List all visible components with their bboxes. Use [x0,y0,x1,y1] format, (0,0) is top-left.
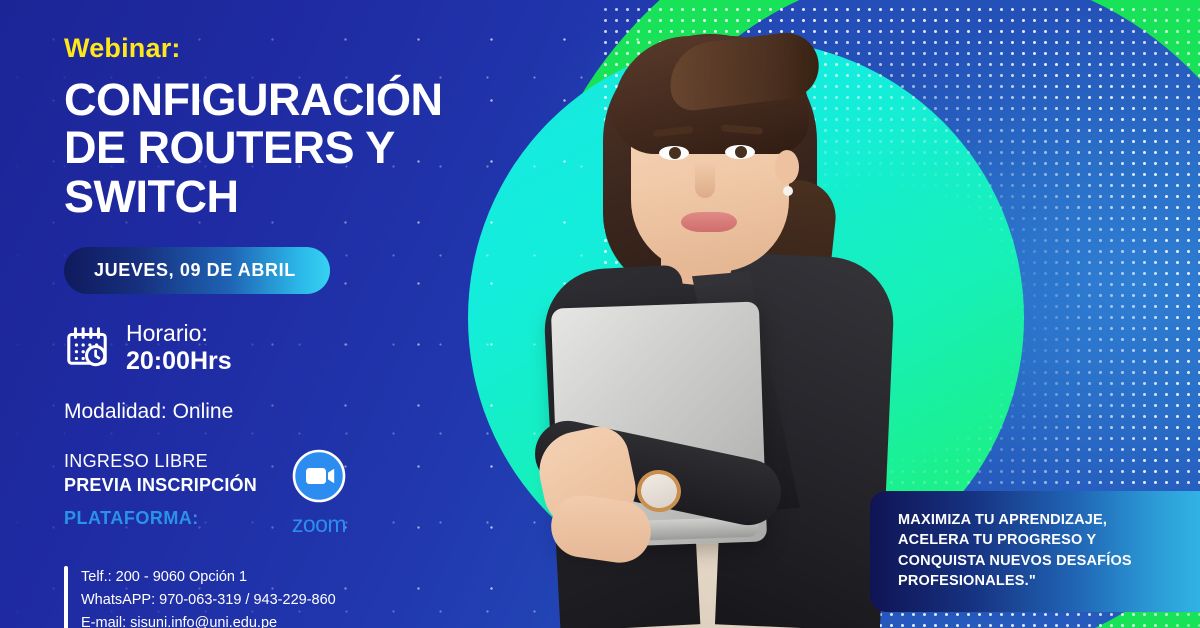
platform-label: PLATAFORMA: [64,508,257,529]
presenter-pupil-left [669,147,681,159]
contact-lines: Telf.: 200 - 9060 Opción 1 WhatsAPP: 970… [81,566,336,628]
schedule-label: Horario: [126,320,232,347]
headline-line-2: DE ROUTERS Y [64,124,470,173]
modality-text: Modalidad: Online [64,400,470,424]
access-line-1: INGRESO LIBRE [64,450,257,473]
contact-email: E-mail: sisuni.info@uni.edu.pe [81,612,336,628]
presenter-nose [695,162,715,198]
contact-block: Telf.: 200 - 9060 Opción 1 WhatsAPP: 970… [64,566,470,628]
schedule-time: 20:00Hrs [126,347,232,376]
content-column: Webinar: CONFIGURACIÓN DE ROUTERS Y SWIT… [0,0,470,628]
page-title: CONFIGURACIÓN DE ROUTERS Y SWITCH [64,76,470,222]
zoom-camera-icon [291,448,347,509]
contact-accent-bar [64,566,68,628]
presenter-pupil-right [735,146,747,158]
headline-line-1: CONFIGURACIÓN [64,76,470,125]
zoom-wordmark: zoom [292,511,346,538]
access-block: INGRESO LIBRE PREVIA INSCRIPCIÓN PLATAFO… [64,450,470,538]
presenter-lips [681,212,737,232]
headline-line-3: SWITCH [64,173,470,222]
date-badge: JUEVES, 09 DE ABRIL [64,247,330,294]
contact-whatsapp: WhatsAPP: 970-063-319 / 943-229-860 [81,589,336,612]
access-text: INGRESO LIBRE PREVIA INSCRIPCIÓN PLATAFO… [64,450,257,529]
kicker-label: Webinar: [64,34,470,64]
contact-phone: Telf.: 200 - 9060 Opción 1 [81,566,336,589]
schedule-block: Horario: 20:00Hrs [64,320,470,376]
motivational-quote: MAXIMIZA TU APRENDIZAJE, ACELERA TU PROG… [870,491,1200,612]
access-line-2: PREVIA INSCRIPCIÓN [64,474,257,497]
presenter-earring [783,186,793,196]
presenter-ear [775,150,799,184]
zoom-logo: zoom [291,448,347,538]
calendar-clock-icon [64,323,110,374]
webinar-banner: Webinar: CONFIGURACIÓN DE ROUTERS Y SWIT… [0,0,1200,628]
schedule-text: Horario: 20:00Hrs [126,320,232,376]
